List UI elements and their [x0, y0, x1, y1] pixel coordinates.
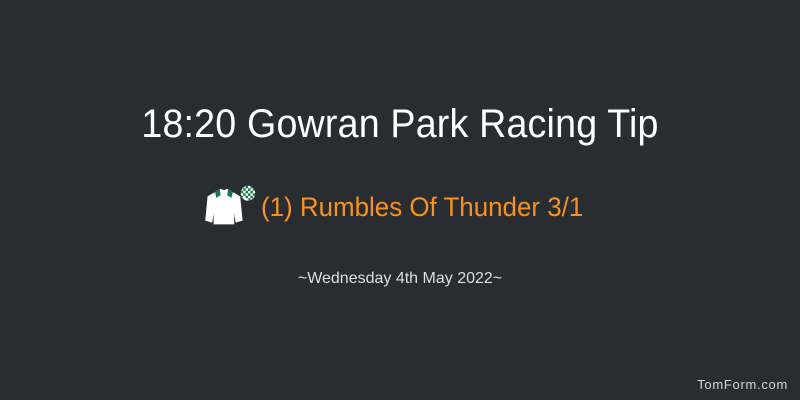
site-watermark: TomForm.com [697, 377, 788, 393]
jockey-silks-icon [203, 184, 257, 230]
page-title: 18:20 Gowran Park Racing Tip [24, 98, 776, 150]
racing-tip-card: 18:20 Gowran Park Racing Tip [0, 0, 800, 400]
race-date: ~Wednesday 4th May 2022~ [0, 268, 800, 290]
tip-row: (1) Rumbles Of Thunder 3/1 [0, 183, 800, 231]
tip-selection-text: (1) Rumbles Of Thunder 3/1 [261, 190, 583, 224]
